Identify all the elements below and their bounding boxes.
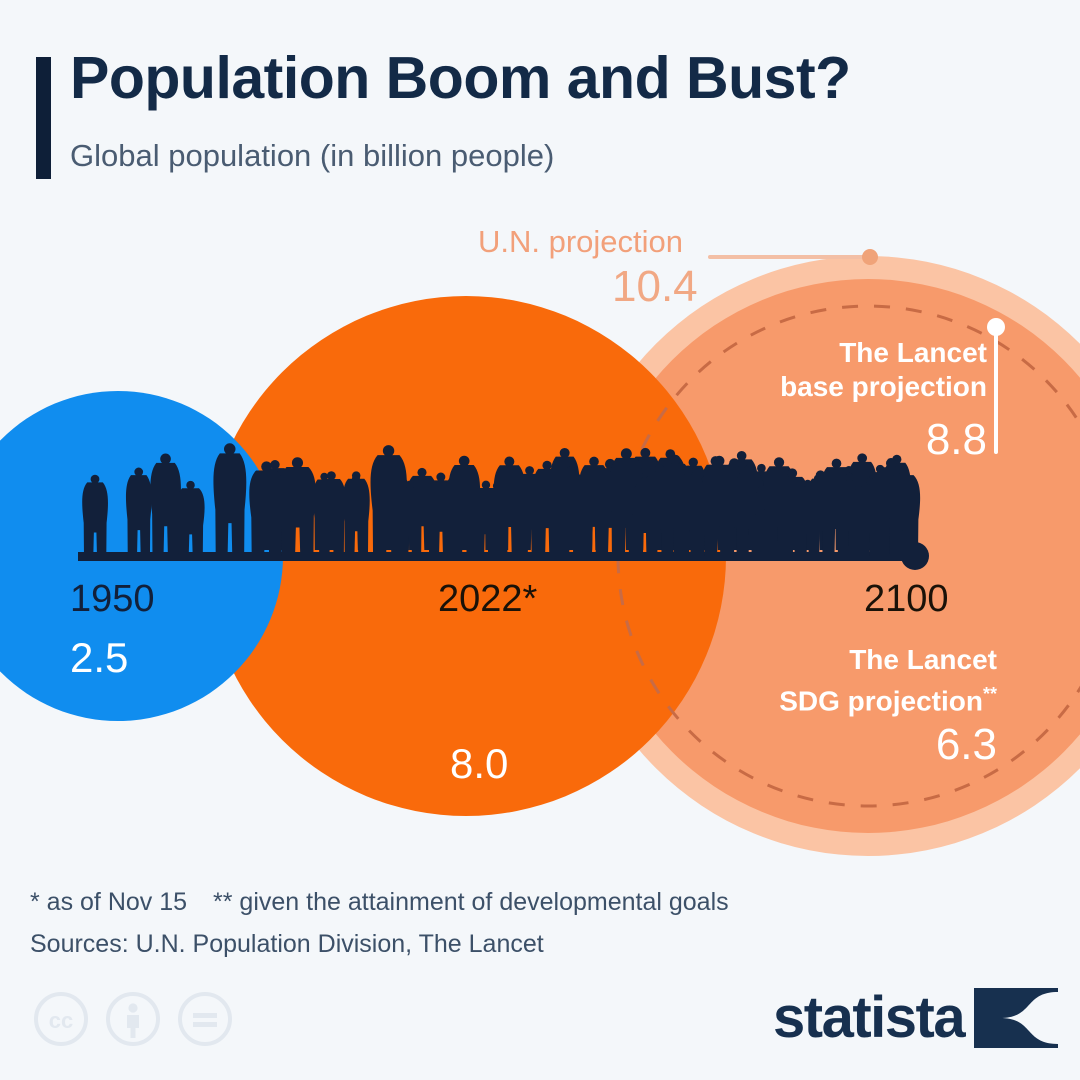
lancet-sdg-label-line2: SDG projection xyxy=(779,685,983,716)
statista-logo: statista xyxy=(773,988,1058,1048)
year-label-2100: 2100 xyxy=(864,578,949,621)
un-projection-label: U.N. projection xyxy=(478,224,683,260)
cc-icon: cc xyxy=(32,990,90,1048)
lancet-sdg-projection-value: 6.3 xyxy=(717,720,997,770)
bubble-chart-graphic xyxy=(0,0,1080,1080)
cc-nd-equals-icon xyxy=(176,990,234,1048)
value-label-2022: 8.0 xyxy=(450,740,508,788)
value-label-1950: 2.5 xyxy=(70,634,128,682)
statista-mark-icon xyxy=(974,988,1058,1048)
footnote-double-asterisk: ** given the attainment of developmental… xyxy=(213,888,729,916)
creative-commons-badges: cc xyxy=(32,990,234,1048)
lancet-base-connector-dot xyxy=(987,318,1005,336)
year-label-2022: 2022* xyxy=(438,578,537,621)
lancet-base-projection-label: The Lancet base projection xyxy=(727,336,987,404)
footnotes: * as of Nov 15** given the attainment of… xyxy=(30,888,729,917)
sources-line: Sources: U.N. Population Division, The L… xyxy=(30,930,544,959)
cc-by-person-icon xyxy=(104,990,162,1048)
infographic-canvas: Population Boom and Bust? Global populat… xyxy=(0,0,1080,1080)
lancet-base-label-line2: base projection xyxy=(780,371,987,402)
un-projection-connector-dot xyxy=(862,249,878,265)
lancet-base-projection-value: 8.8 xyxy=(727,415,987,465)
un-projection-value: 10.4 xyxy=(612,262,698,312)
lancet-sdg-label-line1: The Lancet xyxy=(849,644,997,675)
statista-wordmark: statista xyxy=(773,989,964,1047)
footnote-asterisk: * as of Nov 15 xyxy=(30,888,187,916)
year-label-1950: 1950 xyxy=(70,578,155,621)
lancet-base-label-line1: The Lancet xyxy=(839,337,987,368)
svg-text:cc: cc xyxy=(49,1008,73,1033)
lancet-sdg-footnote-marker: ** xyxy=(983,684,997,704)
lancet-sdg-projection-label: The Lancet SDG projection** xyxy=(717,643,997,718)
